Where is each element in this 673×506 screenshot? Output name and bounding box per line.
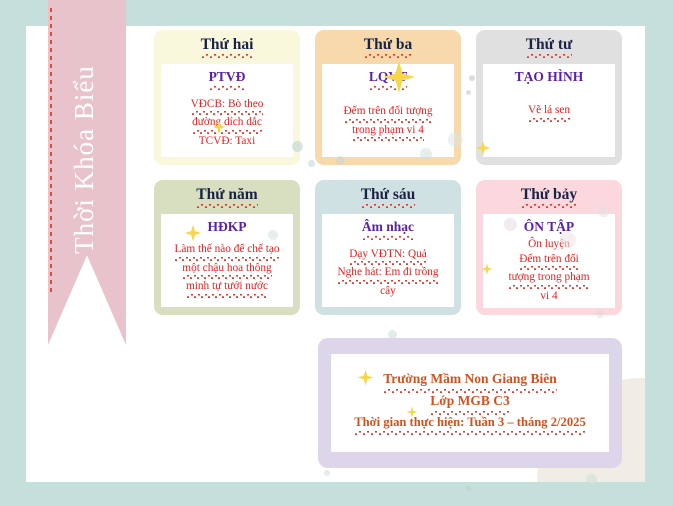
frame-band-bottom [0,482,673,506]
day-card-header: Thứ hai [201,37,254,60]
detail-line: đường dích dắc [192,115,262,134]
detail-text: TCVĐ: Taxi [199,135,255,147]
day-label: Thứ bảy [521,186,577,203]
subject-label: LQVT [369,70,407,90]
detail-text: Đếm trên đối [519,253,579,265]
classroom-name-text: Lớp MGB C3 [430,393,509,408]
day-card-header: Thứ ba [364,37,413,60]
school-name-text: Trường Mầm Non Giang Biên [383,371,557,386]
day-card-thu-ba[interactable]: Thứ ba LQVT Đếm trên đối tượng trong phạ… [315,30,461,165]
day-card-panel: ÔN TẬP Ôn luyện Đếm trên đối tượng trong… [483,214,615,308]
subject-label: HĐKP [208,220,247,235]
subject-text: Âm nhạc [362,219,414,234]
day-label: Thứ năm [196,186,257,203]
day-card-panel: Âm nhạc Dạy VĐTN: Quả Nghe hát: Em đi tr… [322,214,454,307]
day-card-header: Thứ bảy [521,187,577,210]
frame-band-left [0,0,26,506]
day-label: Thứ hai [201,36,254,53]
detail-line: vi 4 [540,289,557,304]
frame-band-right [645,0,673,506]
detail-text: Nghe hát: Em đi trồng [337,266,438,278]
day-card-thu-nam[interactable]: Thứ năm HĐKP Làm thế nào để chế tạo một … [154,180,300,315]
squiggly-underline [369,86,407,90]
day-card-thu-tu[interactable]: Thứ tư TẠO HÌNH Vẽ lá sen [476,30,622,165]
detail-text: minh tự tưới nước [186,280,268,292]
squiggly-underline [528,118,570,122]
subject-label: TẠO HÌNH [515,70,584,85]
detail-line: minh tự tưới nước [186,279,268,298]
detail-line: Vẽ lá sen [528,103,570,122]
day-card-thu-hai[interactable]: Thứ hai PTVĐ VĐCB: Bò theo đường dích dắ… [154,30,300,165]
detail-line: TCVĐ: Taxi [199,134,255,149]
page-title: Thời Khóa Biểu [69,65,100,254]
day-card-panel: TẠO HÌNH Vẽ lá sen [483,64,615,157]
day-card-thu-bay[interactable]: Thứ bảy ÔN TẬP Ôn luyện Đếm trên đối tượ… [476,180,622,315]
squiggly-underline [361,204,416,208]
subject-text: ÔN TẬP [524,219,574,234]
squiggly-underline [209,86,246,90]
day-card-header: Thứ sáu [361,187,416,210]
detail-text: Ôn luyện [528,238,570,250]
detail-line: trong phạm vi 4 [352,123,424,142]
subject-text: PTVĐ [209,69,246,84]
day-card-panel: HĐKP Làm thế nào để chế tạo một chậu hoa… [161,214,293,307]
squiggly-underline [201,54,254,58]
squiggly-underline [526,54,573,58]
detail-text: Làm thế nào để chế tạo [174,243,279,255]
detail-text: Vẽ lá sen [528,104,570,116]
school-name: Trường Mầm Non Giang Biên [383,371,557,393]
footer-panel: Trường Mầm Non Giang Biên Lớp MGB C3 Thờ… [331,354,609,452]
day-label: Thứ ba [364,36,413,53]
detail-text: tượng trong phạm [508,271,589,283]
day-card-panel: PTVĐ VĐCB: Bò theo đường dích dắc TCVĐ: … [161,64,293,157]
day-card-panel: LQVT Đếm trên đối tượng trong phạm vi 4 [322,64,454,157]
detail-line: Đếm trên đối [519,252,579,271]
detail-text: cây [380,285,396,297]
detail-line: VĐCB: Bò theo [191,97,264,116]
day-card-header: Thứ năm [196,187,257,210]
subject-label: Âm nhạc [362,220,414,240]
subject-label: PTVĐ [209,70,246,90]
squiggly-underline [521,204,577,208]
classroom-name: Lớp MGB C3 [430,393,509,415]
detail-text: trong phạm vi 4 [352,124,424,136]
squiggly-underline [186,294,268,298]
footer-info-card[interactable]: Trường Mầm Non Giang Biên Lớp MGB C3 Thờ… [318,338,622,468]
detail-line: Nghe hát: Em đi trồng [337,265,438,284]
squiggly-underline [362,236,414,240]
detail-text: vi 4 [540,290,557,302]
ribbon-stripe-decoration [50,8,52,294]
subject-text: TẠO HÌNH [515,69,584,84]
subject-text: HĐKP [208,219,247,234]
detail-line: Làm thế nào để chế tạo [174,242,279,261]
day-label: Thứ sáu [361,186,416,203]
detail-line: cây [380,284,396,299]
detail-text: một chậu hoa thông [182,262,271,274]
detail-text: VĐCB: Bò theo [191,98,264,110]
day-card-thu-sau[interactable]: Thứ sáu Âm nhạc Dạy VĐTN: Quả Nghe hát: … [315,180,461,315]
squiggly-underline [352,137,424,141]
schedule-page: Thời Khóa Biểu Thứ hai PTVĐ VĐCB: Bò the… [0,0,673,506]
squiggly-underline [196,204,257,208]
detail-text: Dạy VĐTN: Quả [349,248,427,260]
subject-text: LQVT [369,69,407,84]
squiggly-underline [364,54,413,58]
detail-line: Đếm trên đối tượng [344,104,433,123]
detail-text: đường dích dắc [192,116,262,128]
detail-line: Dạy VĐTN: Quả [349,247,427,266]
day-card-header: Thứ tư [526,37,573,60]
detail-line: Ôn luyện [528,237,570,252]
day-label: Thứ tư [526,36,573,53]
period-text: Thời gian thực hiện: Tuần 3 – tháng 2/20… [354,415,586,429]
detail-line: một chậu hoa thông [182,261,271,280]
detail-text: Đếm trên đối tượng [344,105,433,117]
subject-label: ÔN TẬP [524,220,574,235]
squiggly-underline [354,431,586,435]
detail-line: tượng trong phạm [508,270,589,289]
period-label: Thời gian thực hiện: Tuần 3 – tháng 2/20… [354,415,586,436]
